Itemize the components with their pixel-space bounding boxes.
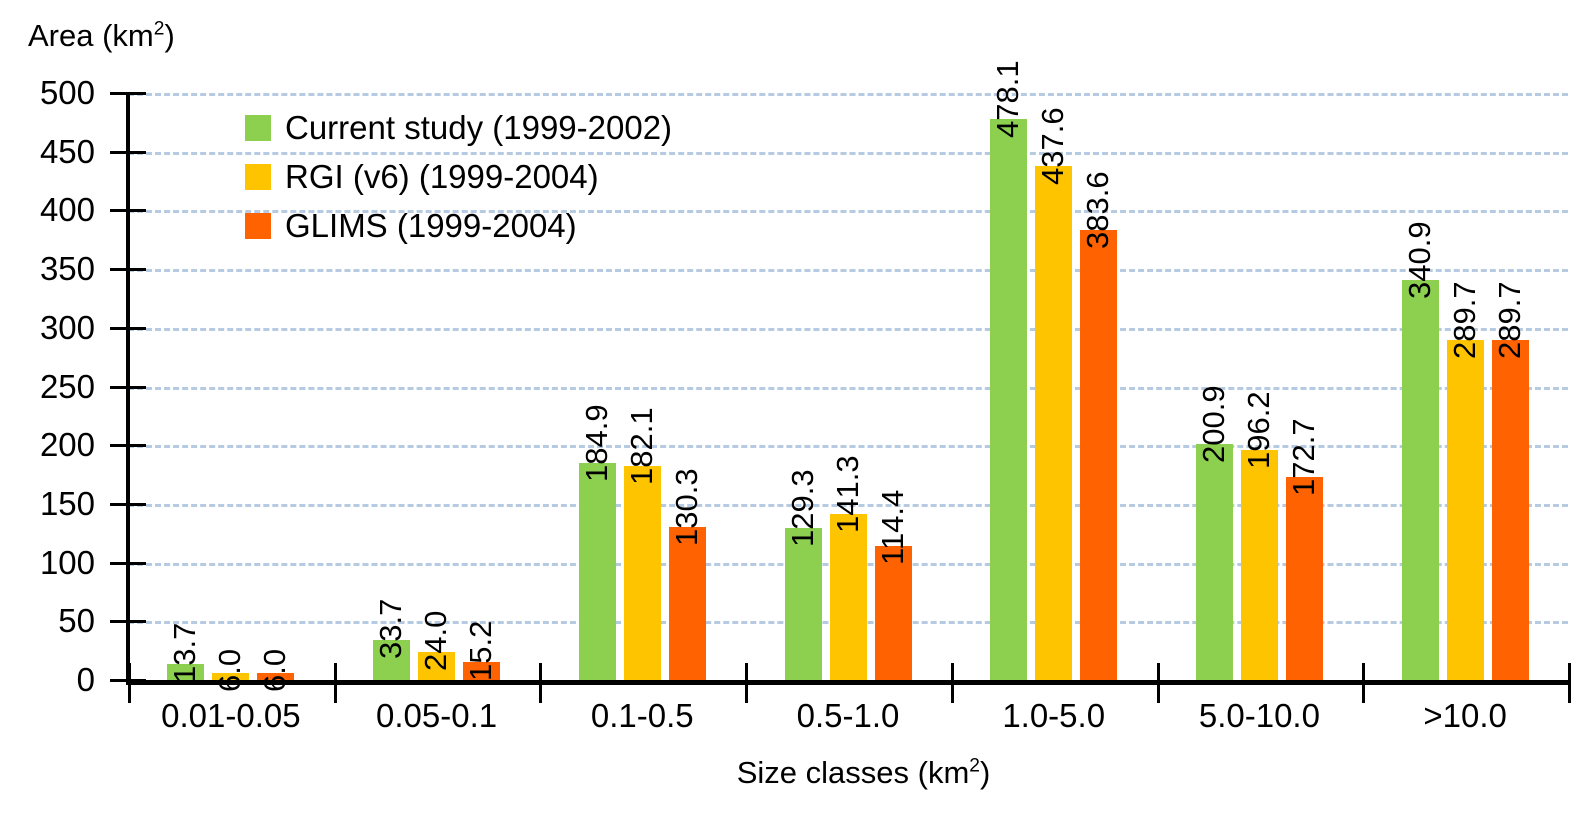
bar-value-label: 114.4: [877, 489, 908, 564]
bar: [579, 463, 616, 680]
bar-value-label: 15.2: [465, 621, 496, 681]
x-axis-separator: [1568, 663, 1571, 703]
bar: [1492, 340, 1529, 680]
bar-value-label: 141.3: [832, 456, 863, 534]
bar-value-label: 6.0: [214, 649, 245, 692]
y-axis-tick-label: 100: [0, 546, 95, 579]
bar: [624, 466, 661, 680]
x-axis-title-text: Size classes (km: [737, 755, 970, 790]
bar: [1402, 280, 1439, 680]
bar-value-label: 6.0: [259, 649, 290, 692]
x-axis-title: Size classes (km2): [0, 755, 1587, 791]
legend-item-label: RGI (v6) (1999-2004): [285, 160, 599, 193]
y-axis-title-tail: ): [164, 18, 174, 53]
y-axis-tick: [110, 327, 146, 330]
gridline: [128, 93, 1568, 96]
bar: [1241, 450, 1278, 680]
bar: [1196, 444, 1233, 680]
x-axis-title-superscript: 2: [969, 756, 980, 777]
y-axis-tick-label: 300: [0, 311, 95, 344]
y-axis-tick: [110, 620, 146, 623]
bar-value-label: 184.9: [581, 404, 612, 482]
bar-value-label: 478.1: [992, 60, 1023, 138]
legend-item[interactable]: GLIMS (1999-2004): [245, 201, 672, 250]
x-axis-tick-label: >10.0: [1362, 697, 1568, 735]
y-axis-tick-label: 0: [0, 663, 95, 696]
legend-item-label: Current study (1999-2002): [285, 111, 672, 144]
bar-value-label: 196.2: [1243, 391, 1274, 469]
bar-value-label: 340.9: [1404, 221, 1435, 299]
bar: [1080, 230, 1117, 680]
x-axis-line: [126, 680, 1570, 685]
bar-value-label: 182.1: [626, 408, 657, 486]
bar-value-label: 289.7: [1449, 281, 1480, 359]
x-axis-title-tail: ): [980, 755, 990, 790]
bar-chart: Area (km2) 13.76.06.033.724.015.2184.918…: [0, 0, 1587, 820]
bar-value-label: 200.9: [1198, 386, 1229, 464]
y-axis-tick: [110, 209, 146, 212]
y-axis-tick-label: 450: [0, 135, 95, 168]
bar-value-label: 130.3: [671, 468, 702, 546]
bar-value-label: 13.7: [169, 623, 200, 683]
y-axis-title-superscript: 2: [154, 19, 165, 40]
y-axis-tick-label: 500: [0, 76, 95, 109]
bar-value-label: 129.3: [787, 470, 818, 548]
x-axis-tick-label: 5.0-10.0: [1157, 697, 1363, 735]
bar-value-label: 24.0: [420, 610, 451, 670]
x-axis-tick-label: 0.5-1.0: [745, 697, 951, 735]
legend-item-label: GLIMS (1999-2004): [285, 209, 577, 242]
y-axis-tick: [110, 268, 146, 271]
bar: [990, 119, 1027, 680]
y-axis-tick: [110, 562, 146, 565]
legend-swatch-icon: [245, 164, 271, 190]
legend-item[interactable]: RGI (v6) (1999-2004): [245, 152, 672, 201]
gridline: [128, 445, 1568, 448]
y-axis-tick-label: 400: [0, 193, 95, 226]
y-axis-tick-label: 50: [0, 604, 95, 637]
y-axis-tick: [110, 386, 146, 389]
y-axis-title: Area (km2): [28, 18, 175, 54]
y-axis-tick: [110, 92, 146, 95]
gridline: [128, 269, 1568, 272]
legend-swatch-icon: [245, 115, 271, 141]
bar-value-label: 383.6: [1082, 171, 1113, 249]
y-axis-title-text: Area (km: [28, 18, 154, 53]
gridline: [128, 387, 1568, 390]
bar-value-label: 33.7: [375, 599, 406, 659]
bar: [785, 528, 822, 680]
bar: [830, 514, 867, 680]
legend-item[interactable]: Current study (1999-2002): [245, 103, 672, 152]
y-axis-tick-label: 250: [0, 370, 95, 403]
y-axis-tick: [110, 151, 146, 154]
bar-value-label: 437.6: [1037, 108, 1068, 186]
bar: [1447, 340, 1484, 680]
legend: Current study (1999-2002)RGI (v6) (1999-…: [245, 103, 672, 250]
y-axis-tick-label: 200: [0, 428, 95, 461]
x-axis-tick-label: 0.05-0.1: [334, 697, 540, 735]
bar: [669, 527, 706, 680]
y-axis-tick-label: 350: [0, 252, 95, 285]
gridline: [128, 328, 1568, 331]
legend-swatch-icon: [245, 213, 271, 239]
bar-value-label: 172.7: [1288, 419, 1319, 497]
bar: [1286, 477, 1323, 680]
bar: [1035, 166, 1072, 680]
y-axis-tick-label: 150: [0, 487, 95, 520]
x-axis-tick-label: 0.01-0.05: [128, 697, 334, 735]
x-axis-tick-label: 1.0-5.0: [951, 697, 1157, 735]
bar-value-label: 289.7: [1494, 281, 1525, 359]
x-axis-tick-label: 0.1-0.5: [539, 697, 745, 735]
bar: [875, 546, 912, 680]
y-axis-tick: [110, 503, 146, 506]
y-axis-tick: [110, 444, 146, 447]
